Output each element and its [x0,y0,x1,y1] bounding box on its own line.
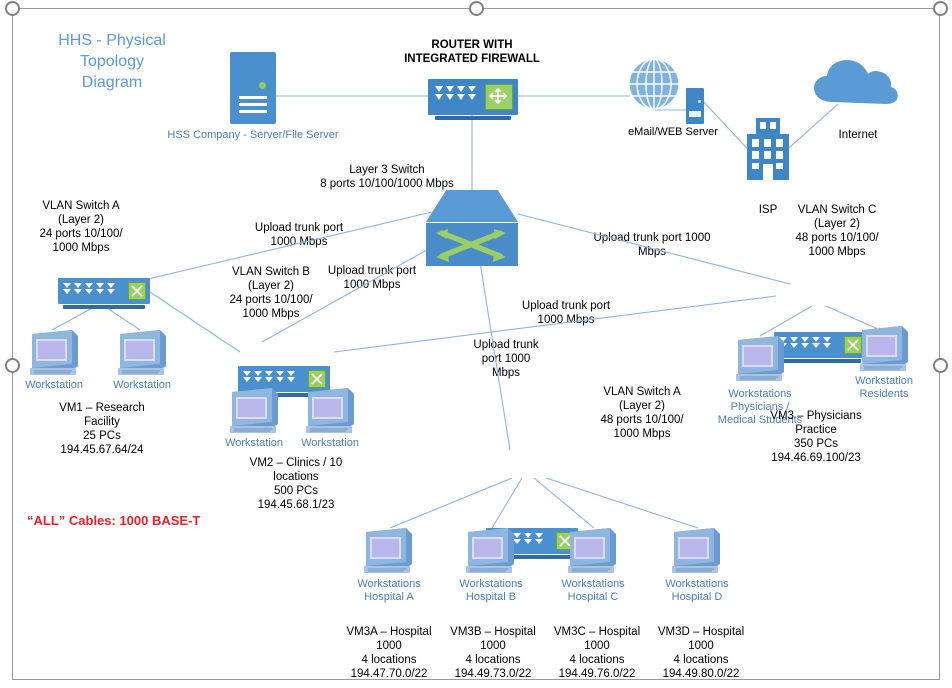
vm3b-info: VM3B – Hospital 1000 4 locations 194.49.… [440,625,546,681]
globe-icon [628,58,680,110]
switch-uplink-badge-icon [128,282,146,300]
workstation-icon [564,526,620,576]
router-label: ROUTER WITH INTEGRATED FIREWALL [392,38,552,66]
workstation-icon [668,526,724,576]
ws-hospital-a-label: Workstations Hospital A [344,578,434,604]
workstation-icon [732,334,788,384]
vm3a-info: VM3A – Hospital 1000 4 locations 194.47.… [336,625,442,681]
resize-handle-middle-left[interactable] [5,358,20,373]
switch-port-leds [63,283,115,294]
ws-vm2-1-node[interactable] [226,386,282,441]
ws-hospital-a-node[interactable] [360,526,416,581]
server-icon [230,52,276,124]
server-bar-3 [239,110,267,113]
vlan-switch-a-bottom-label: VLAN Switch A (Layer 2) 48 ports 10/100/… [572,385,712,441]
file-server-node[interactable] [230,52,276,124]
switch-stand [779,359,861,363]
firewall-arrows-icon [486,85,510,107]
cables-note: “ALL” Cables: 1000 BASE-T [27,513,200,528]
ws-hospital-d-node[interactable] [668,526,724,581]
resize-handle-top-right[interactable] [933,1,948,16]
globe-server-icon [686,88,704,124]
switch-cross-arrows-icon [130,284,144,298]
switch-port-leds [243,371,295,382]
workstation-icon [226,386,282,436]
page-title: HHS - Physical Topology Diagram [22,30,202,93]
server-status-dot [259,82,266,89]
router-port-leds [435,86,476,100]
vm3d-info: VM3D – Hospital 1000 4 locations 194.49.… [648,625,754,681]
ws-physicians-node[interactable] [732,334,788,389]
workstation-icon [462,526,518,576]
ws-hospital-d-label: Workstations Hospital D [652,578,742,604]
ws-hospital-b-node[interactable] [462,526,518,581]
workstation-icon [114,328,170,378]
vlan-switch-a-left-label: VLAN Switch A (Layer 2) 24 ports 10/100/… [8,199,154,255]
globe-node[interactable] [628,58,680,115]
mail-server-panel [689,111,701,117]
vlan-switch-c-label: VLAN Switch C (Layer 2) 48 ports 10/100/… [762,203,912,259]
vm1-info: VM1 – Research Facility 25 PCs 194.45.67… [38,401,166,457]
vm3-info: VM3 – Physicians Practice 350 PCs 194.46… [740,409,892,465]
file-server-label: HSS Company - Server/File Server [163,129,343,142]
workstation-icon [856,324,912,374]
l3-top-face [426,190,518,222]
vm3c-info: VM3C – Hospital 1000 4 locations 194.49.… [544,625,650,681]
server-bar-1 [239,96,267,99]
server-bar-2 [239,103,267,106]
resize-handle-middle-right[interactable] [933,358,948,373]
internet-node[interactable] [812,58,900,111]
router-firewall-icon [428,79,518,115]
workstation-icon [302,386,358,436]
ws-hospital-b-label: Workstations Hospital B [446,578,536,604]
ws-hospital-c-label: Workstations Hospital C [548,578,638,604]
switch-stand [63,305,145,309]
ws-hospital-c-node[interactable] [564,526,620,581]
vlan-switch-a-left-node[interactable] [58,278,952,304]
cloud-icon [812,58,900,106]
ws-vm1-1-node[interactable] [26,328,82,383]
workstation-icon [26,328,82,378]
mail-server-status-dot [698,100,701,103]
router-node[interactable] [428,79,518,115]
l3-front-face [426,223,518,266]
vm2-info: VM2 – Clinics / 10 locations 500 PCs 194… [232,456,360,512]
router-stand [435,116,511,120]
layer3-switch-label: Layer 3 Switch 8 ports 10/100/1000 Mbps [282,163,492,191]
slide-canvas: HHS - Physical Topology Diagram HSS Comp… [0,0,952,688]
switch-icon [58,278,150,304]
building-icon [743,118,793,180]
resize-handle-top-left[interactable] [5,1,20,16]
ws-vm2-2-node[interactable] [302,386,358,441]
mail-web-server-node[interactable] [686,88,704,124]
trunk-label-upper-right: Upload trunk port 1000 Mbps [578,231,726,259]
firewall-badge-icon [485,84,513,110]
isp-node[interactable] [743,118,793,185]
ws-vm1-2-node[interactable] [114,328,170,383]
switch-cross-arrows-icon [310,372,324,386]
layer3-switch-node[interactable] [426,190,518,266]
l3-cross-arrows-icon [426,223,518,266]
trunk-label-upper-left: Upload trunk port 1000 Mbps [232,221,366,249]
ws-residents-node[interactable] [856,324,912,379]
workstation-icon [360,526,416,576]
mail-web-server-label: eMail/WEB Server [608,126,738,139]
layer3-switch-icon [426,190,518,266]
internet-label: Internet [818,128,898,142]
resize-handle-top-center[interactable] [469,1,484,16]
